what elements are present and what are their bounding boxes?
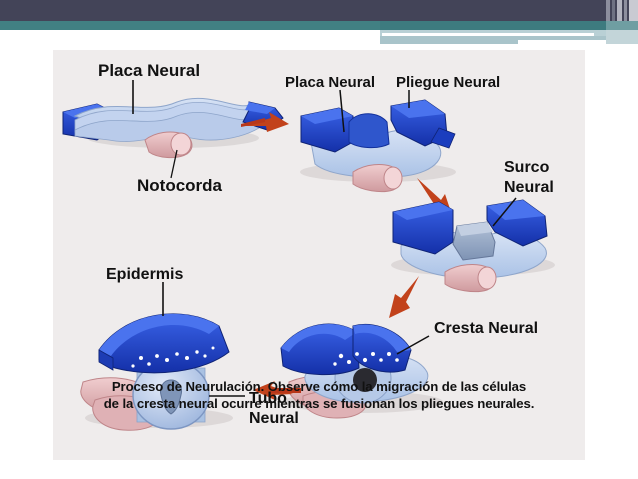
label-pliegue-neural: Pliegue Neural: [396, 74, 500, 91]
stage-1-neural-plate: [63, 80, 283, 178]
caption-line-1: Proceso de Neurulación. Observe cómo la …: [57, 378, 581, 395]
neurulation-diagram-image: Placa Neural Notocorda Placa Neural Plie…: [53, 50, 585, 460]
notochord-shape-3: [445, 265, 496, 292]
stage-3-neural-groove: [391, 198, 555, 292]
caption-line-2: de la cresta neural ocurre mientras se f…: [57, 395, 581, 412]
label-notocorda: Notocorda: [137, 176, 223, 195]
label-placa-neural-1: Placa Neural: [98, 61, 200, 80]
stage-2-neural-folds: [300, 90, 456, 192]
header-accent-teal-bar: [380, 21, 638, 30]
diagram-caption: Proceso de Neurulación. Observe cómo la …: [53, 378, 585, 413]
header-dark-bar: [0, 0, 638, 21]
header-vertical-pale-overlay: [606, 30, 638, 44]
notochord-shape: [145, 132, 192, 158]
label-surco-neural-line1: Surco: [504, 159, 550, 176]
label-cresta-neural: Cresta Neural: [434, 320, 538, 337]
slide-header-decoration: [0, 0, 638, 48]
label-placa-neural-2: Placa Neural: [285, 74, 375, 91]
header-vertical-teal-overlay: [606, 21, 638, 30]
label-epidermis: Epidermis: [106, 266, 183, 283]
label-surco-neural-line2: Neural: [504, 179, 554, 196]
header-white-left-block: [0, 30, 380, 48]
arrow-stage3-to-stage4: [389, 276, 419, 318]
notochord-shape-2: [353, 165, 402, 192]
